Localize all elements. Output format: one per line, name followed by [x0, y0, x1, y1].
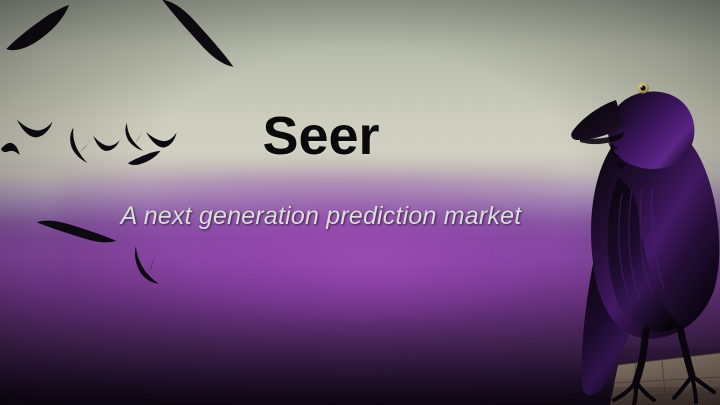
- flying-bird-11-icon: [127, 245, 164, 287]
- crow-eye-highlight: [641, 86, 643, 88]
- title-slide: Seer A next generation prediction market: [0, 0, 720, 405]
- slide-subtitle: A next generation prediction market: [0, 202, 720, 231]
- crow-legs: [614, 328, 714, 404]
- page-title: Seer: [0, 108, 720, 165]
